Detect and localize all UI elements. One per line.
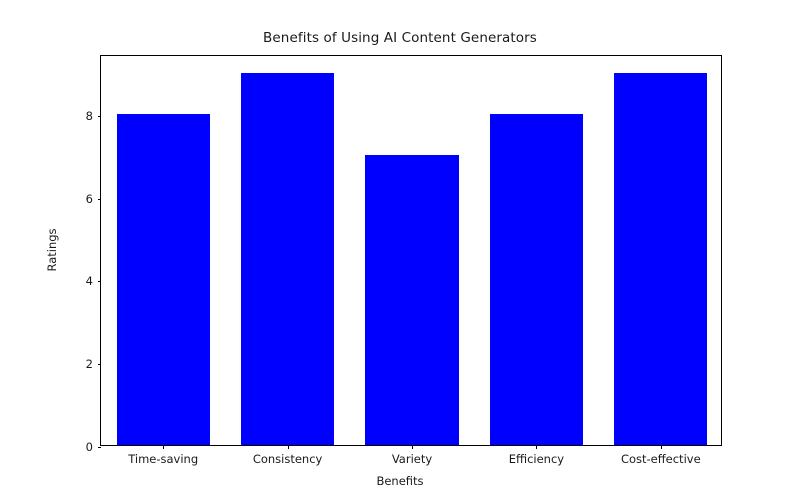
y-axis-label: Ratings — [45, 228, 59, 271]
plot-area: 02468 Time-savingConsistencyVarietyEffic… — [100, 55, 722, 446]
x-tick-mark — [536, 445, 537, 449]
x-tick-label: Variety — [392, 452, 432, 466]
x-tick-mark — [163, 445, 164, 449]
x-tick-mark — [661, 445, 662, 449]
x-tick-label: Cost-effective — [621, 452, 701, 466]
bar[interactable] — [241, 73, 334, 445]
bar[interactable] — [490, 114, 583, 445]
y-tick-label: 6 — [86, 192, 93, 206]
x-tick-label: Time-saving — [128, 452, 198, 466]
bars-layer — [101, 56, 721, 445]
x-tick-label: Consistency — [253, 452, 323, 466]
y-tick-label: 4 — [86, 274, 93, 288]
y-tick-mark — [98, 447, 102, 448]
chart-title: Benefits of Using AI Content Generators — [0, 30, 800, 46]
chart-figure: Benefits of Using AI Content Generators … — [0, 0, 800, 500]
y-tick-label: 2 — [86, 357, 93, 371]
bar[interactable] — [614, 73, 707, 445]
x-tick-label: Efficiency — [509, 452, 564, 466]
y-tick-label: 0 — [86, 440, 93, 454]
x-axis-label: Benefits — [0, 474, 800, 488]
bar[interactable] — [365, 155, 458, 445]
x-tick-mark — [412, 445, 413, 449]
x-tick-mark — [288, 445, 289, 449]
bar[interactable] — [117, 114, 210, 445]
y-tick-label: 8 — [86, 109, 93, 123]
